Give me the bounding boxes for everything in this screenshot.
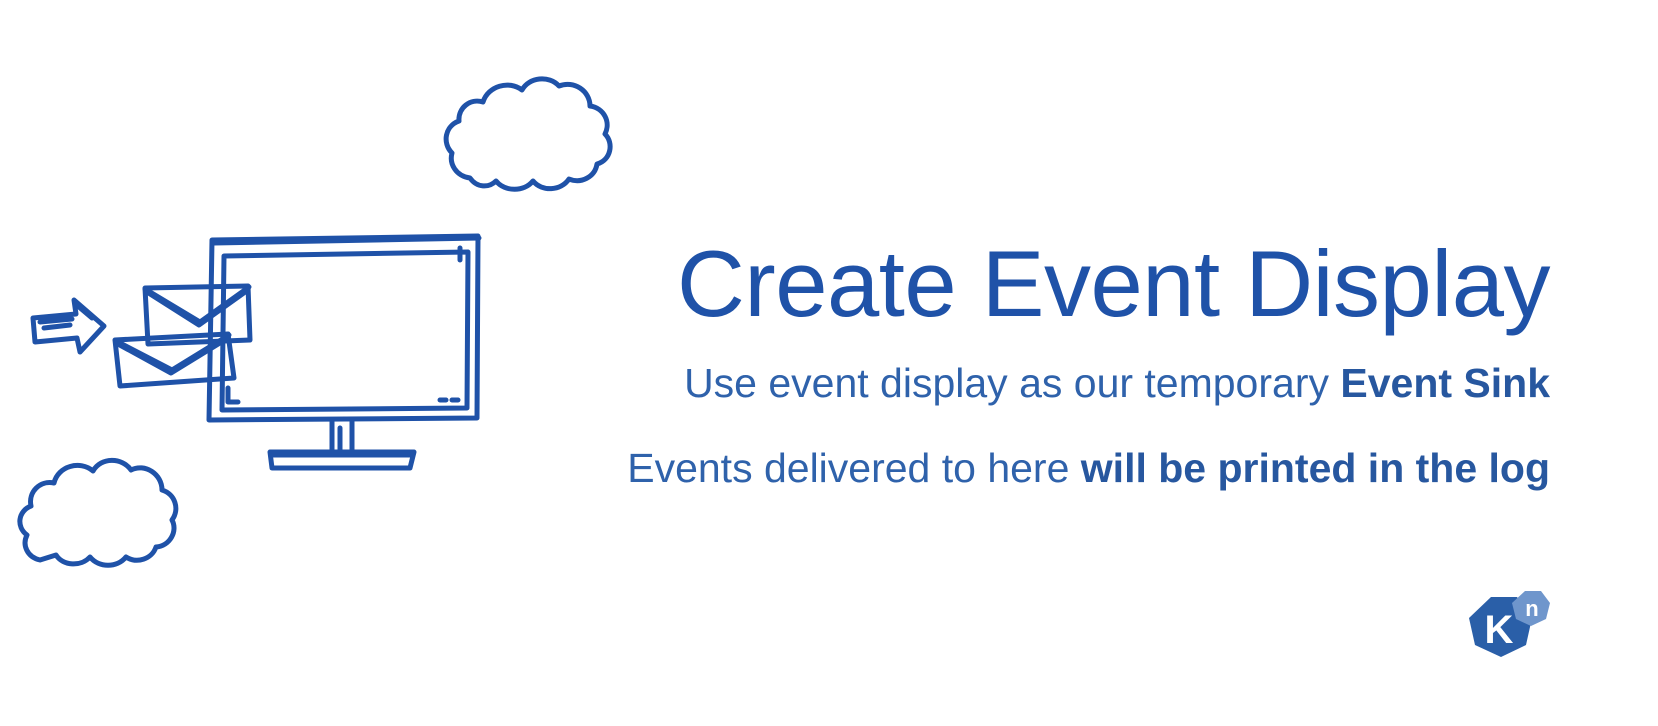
subtitle-line-1-plain: Use event display as our temporary [684,360,1340,406]
knative-logo-letter-k: K [1485,608,1514,652]
cloud-icon [446,79,610,189]
knative-logo: K n [1449,588,1559,678]
knative-logo-letter-n: n [1525,596,1538,621]
subtitle-line-1: Use event display as our temporary Event… [520,358,1550,409]
arrow-icon [33,300,104,352]
slide-text-block: Create Event Display Use event display a… [520,236,1550,494]
cloud-icon [20,460,176,565]
slide-root: Create Event Display Use event display a… [0,0,1658,726]
subtitle-line-2: Events delivered to here will be printed… [520,443,1550,494]
subtitle-line-2-plain: Events delivered to here [627,445,1081,491]
subtitle-line-1-emphasis: Event Sink [1340,360,1550,406]
monitor-icon [209,236,479,468]
subtitle-line-2-emphasis: will be printed in the log [1081,445,1550,491]
page-title: Create Event Display [520,236,1550,332]
